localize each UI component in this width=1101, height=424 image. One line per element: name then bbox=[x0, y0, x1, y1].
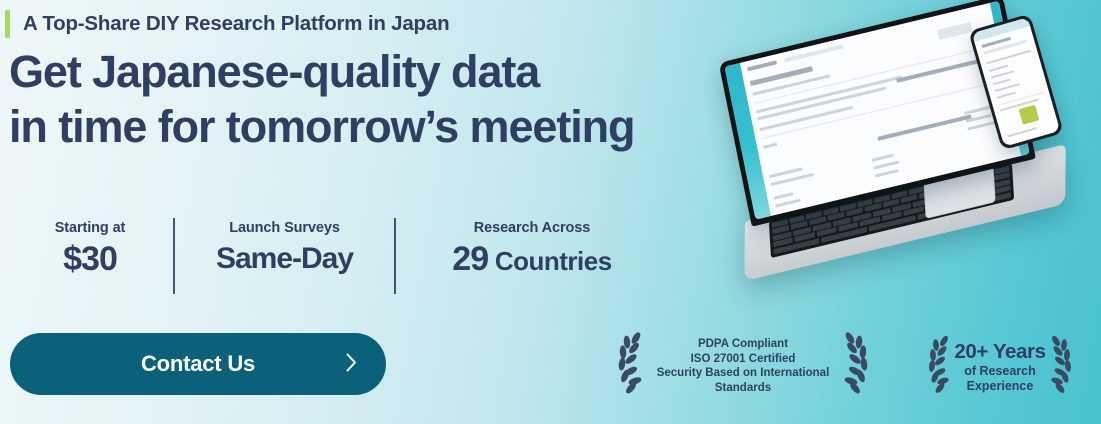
badge-line: of Research bbox=[954, 364, 1045, 379]
stat-value-number: $30 bbox=[63, 240, 117, 278]
stat-divider bbox=[173, 218, 175, 294]
badge-line: ISO 27001 Certified bbox=[647, 352, 839, 367]
headline-line-1: Get Japanese-quality data bbox=[9, 44, 709, 99]
headline-line-2: in time for tomorrow’s meeting bbox=[9, 99, 709, 154]
badge-line: Standards bbox=[647, 381, 839, 396]
laurel-wreath-icon bbox=[924, 336, 954, 399]
stat-value-number: Same-Day bbox=[216, 242, 353, 275]
stat-value-unit: Countries bbox=[488, 246, 612, 276]
badge-headline: 20+ Years bbox=[954, 340, 1045, 364]
accent-bar-icon bbox=[5, 10, 10, 38]
hero-banner: A Top-Share DIY Research Platform in Jap… bbox=[0, 0, 1101, 424]
pdpa-iso-badge-text: PDPA Compliant ISO 27001 Certified Secur… bbox=[647, 337, 839, 395]
laurel-wreath-icon bbox=[1046, 336, 1076, 399]
page-title: Get Japanese-quality data in time for to… bbox=[9, 44, 709, 154]
stats-row: Starting at $30 Launch Surveys Same-Day … bbox=[0, 214, 680, 296]
eyebrow-text: A Top-Share DIY Research Platform in Jap… bbox=[23, 12, 449, 36]
badge-line: PDPA Compliant bbox=[647, 337, 839, 352]
badge-line: Security Based on International bbox=[647, 366, 839, 381]
device-artwork bbox=[716, 6, 1101, 261]
experience-badge-text: 20+ Years of Research Experience bbox=[954, 340, 1045, 394]
contact-us-button[interactable]: Contact Us bbox=[10, 333, 386, 395]
stat-label: Starting at bbox=[20, 220, 160, 236]
experience-badge: 20+ Years of Research Experience bbox=[900, 330, 1100, 404]
laurel-wreath-icon bbox=[839, 332, 873, 401]
pdpa-iso-badge: PDPA Compliant ISO 27001 Certified Secur… bbox=[612, 326, 874, 406]
contact-us-label: Contact Us bbox=[141, 351, 255, 377]
stat-value: $30 bbox=[20, 239, 160, 281]
stat-launch-surveys: Launch Surveys Same-Day bbox=[192, 220, 377, 279]
stat-divider bbox=[394, 218, 396, 294]
stat-value: Same-Day bbox=[192, 239, 377, 279]
eyebrow: A Top-Share DIY Research Platform in Jap… bbox=[0, 9, 449, 39]
stat-value: 29 Countries bbox=[412, 239, 652, 281]
stat-research-across: Research Across 29 Countries bbox=[412, 220, 652, 281]
laurel-wreath-icon bbox=[613, 332, 647, 401]
stat-label: Research Across bbox=[412, 220, 652, 236]
stat-value-number: 29 bbox=[452, 240, 488, 278]
stat-label: Launch Surveys bbox=[192, 220, 377, 236]
stat-starting-at: Starting at $30 bbox=[20, 220, 160, 281]
badge-line: Experience bbox=[954, 379, 1045, 394]
phone-submit-button bbox=[1019, 105, 1040, 125]
chevron-right-icon bbox=[345, 353, 358, 376]
